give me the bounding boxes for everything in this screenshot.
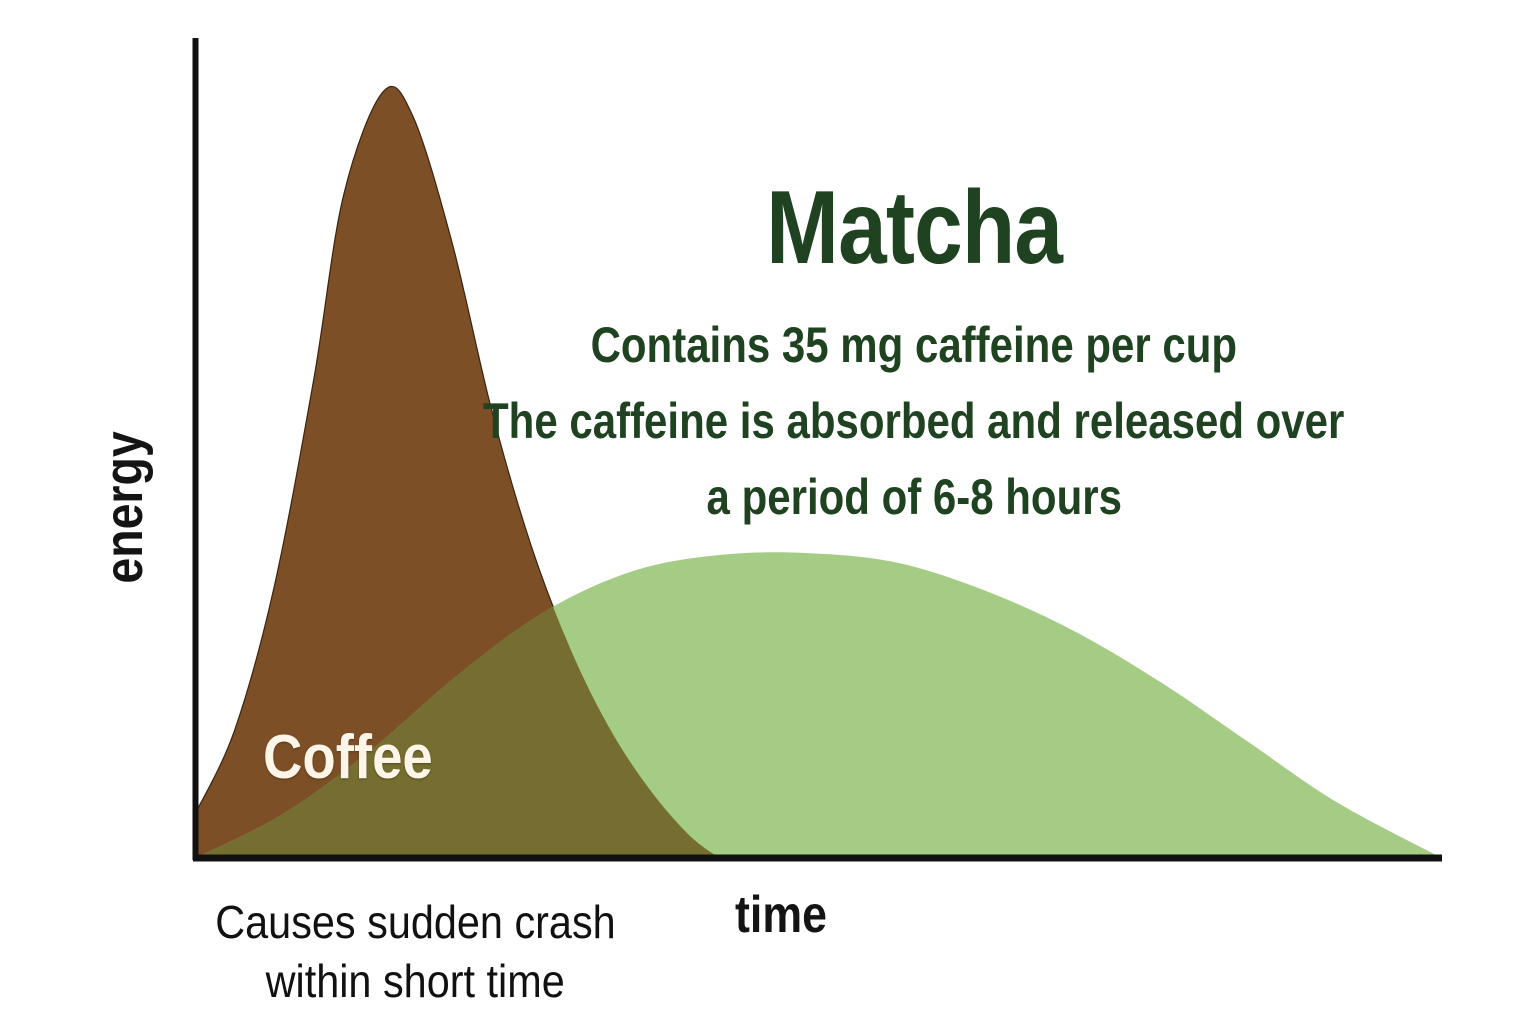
coffee-caption-line-1-text: Causes sudden crash: [215, 893, 615, 952]
coffee-series-label: Coffee: [263, 727, 456, 789]
coffee-caption-line-2: within short time: [150, 952, 680, 1011]
infographic-canvas: energy time Coffee Matcha Contains 35 mg…: [0, 0, 1536, 1024]
matcha-description-line-3-text: a period of 6-8 hours: [706, 472, 1121, 522]
matcha-description-line-1: Contains 35 mg caffeine per cup: [146, 320, 1536, 370]
coffee-caption-line-2-text: within short time: [265, 952, 564, 1011]
matcha-title-text: Matcha: [766, 176, 1062, 280]
coffee-caption: Causes sudden crash within short time: [150, 893, 680, 1011]
matcha-description-line-2-text: The caffeine is absorbed and released ov…: [483, 396, 1344, 446]
matcha-description-line-1-text: Contains 35 mg caffeine per cup: [591, 320, 1237, 370]
coffee-series-label-text: Coffee: [263, 727, 433, 789]
matcha-title: Matcha: [146, 176, 1536, 280]
x-axis-label-text: time: [735, 889, 827, 941]
x-axis-label: time: [735, 889, 842, 941]
y-axis-label-text: energy: [97, 431, 151, 583]
matcha-description-line-2: The caffeine is absorbed and released ov…: [146, 396, 1536, 446]
coffee-caption-line-1: Causes sudden crash: [150, 893, 680, 952]
matcha-description-line-3: a period of 6-8 hours: [146, 472, 1536, 522]
y-axis-label: energy: [97, 377, 151, 637]
